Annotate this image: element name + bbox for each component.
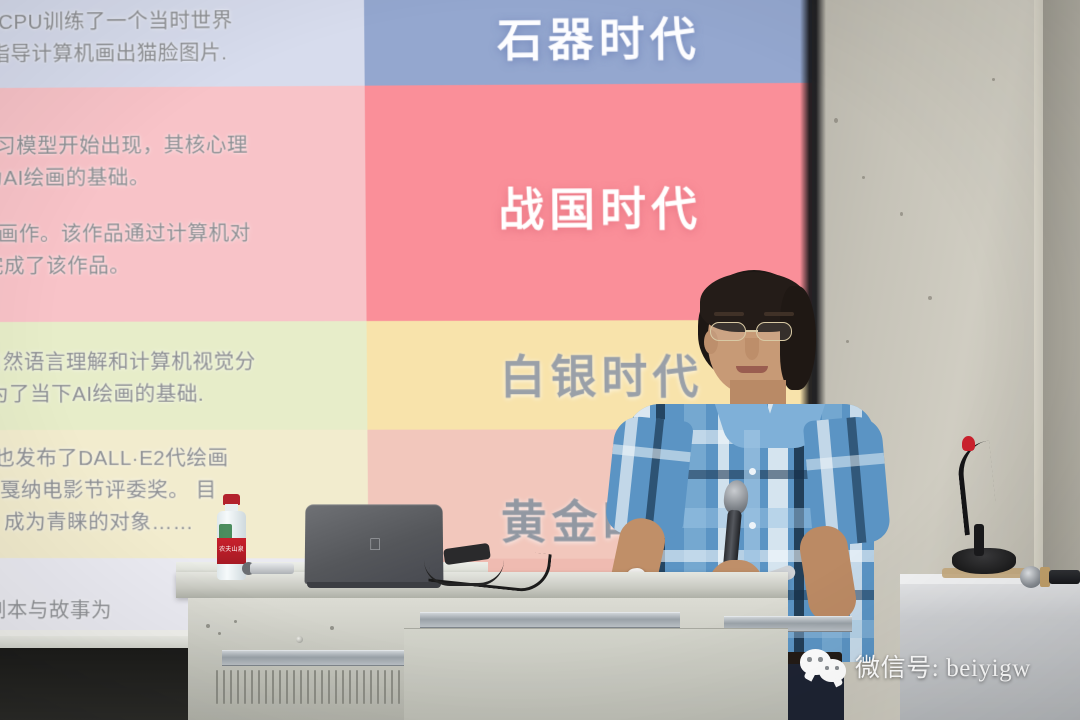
slide-text-line-7: 行自然语言理解和计算机视觉分 [0, 347, 256, 378]
slide-text-line-8: 成为了当下AI绘画的基础. [0, 380, 204, 410]
wall-seam [1034, 0, 1043, 640]
slide-text-line-1: 万个CPU训练了一个当时世界 [0, 6, 233, 38]
slide-text-line-9: AI 也发布了DALL·E2代绘画 [0, 444, 229, 474]
podium-right-panel [404, 628, 788, 720]
bottle-brand-text: 农夫山泉 [218, 544, 245, 553]
usb-adapter[interactable] [250, 563, 294, 574]
drawer-rail [420, 612, 680, 628]
laptop-hinge [307, 582, 441, 588]
nose [745, 338, 759, 360]
slide-text-line-2: 来指导计算机画出猫脸图片. [0, 38, 228, 70]
apple-logo-icon:  [367, 536, 383, 554]
photograph: 万个CPU训练了一个当时世界 来指导计算机画出猫脸图片. 度学习模型开始出现，其… [0, 0, 1080, 720]
slide-text-line-5: 成的画作。该作品通过计算机对 [0, 219, 251, 250]
wechat-icon [800, 649, 846, 683]
handheld-microphone-on-table[interactable] [1020, 566, 1080, 588]
era-heading-warring: 战国时代 [365, 172, 812, 240]
slide-text-line-10: 获得戛纳电影节评委奖。 目 [0, 476, 217, 506]
wechat-id-text: 微信号: beiyigw [855, 648, 1031, 684]
eyebrow-left [714, 312, 744, 316]
podium-screw [296, 636, 303, 643]
macbook-laptop[interactable]:  [305, 504, 443, 590]
gooseneck-microphone[interactable] [946, 428, 1018, 582]
slide-band-left-2 [0, 86, 367, 322]
power-cable-loop [424, 556, 504, 586]
slide-text-line-4: 成为AI绘画的基础。 [0, 163, 150, 194]
slide-text-line-3: 度学习模型开始出现，其核心理 [0, 131, 248, 163]
wall-right-column [1043, 0, 1080, 650]
side-table [900, 574, 1080, 720]
mouth [736, 366, 768, 373]
shirt-button [749, 468, 756, 475]
slide-text-line-6: 析完成了该作品。 [0, 251, 130, 282]
era-heading-stone-age: 石器时代 [364, 2, 812, 71]
slide-text-line-11: 型，成为青睐的对象…… [0, 508, 194, 538]
second-desk-body [0, 648, 196, 720]
microphone-indicator-light [962, 436, 975, 451]
wechat-watermark: 微信号: beiyigw [800, 648, 1031, 684]
shirt-button [749, 522, 756, 529]
eyebrow-right [764, 312, 794, 316]
slide-text-line-12: 据剧本与故事为 [0, 596, 112, 626]
